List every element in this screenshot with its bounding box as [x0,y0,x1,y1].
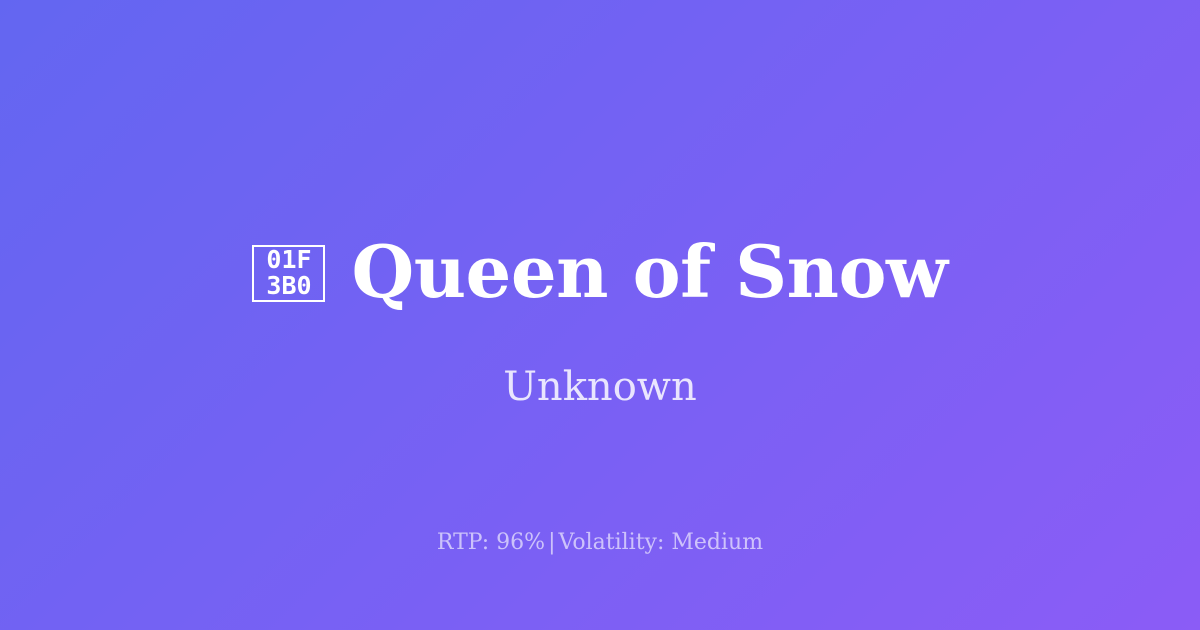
volatility-stat: Volatility: Medium [559,530,764,555]
game-share-card: 01F 3B0 Queen of Snow Unknown RTP: 96%|V… [0,0,1200,630]
page-title: Queen of Snow [351,234,947,310]
game-stats: RTP: 96%|Volatility: Medium [0,528,1200,558]
slot-machine-emoji-icon: 01F 3B0 [252,245,325,302]
tofu-codepoint-top: 01F [266,247,311,273]
stats-separator: | [545,530,558,555]
title-row: 01F 3B0 Queen of Snow [0,234,1200,310]
tofu-codepoint-bottom: 3B0 [266,273,311,299]
rtp-stat: RTP: 96% [437,530,545,555]
provider-label: Unknown [0,363,1200,411]
